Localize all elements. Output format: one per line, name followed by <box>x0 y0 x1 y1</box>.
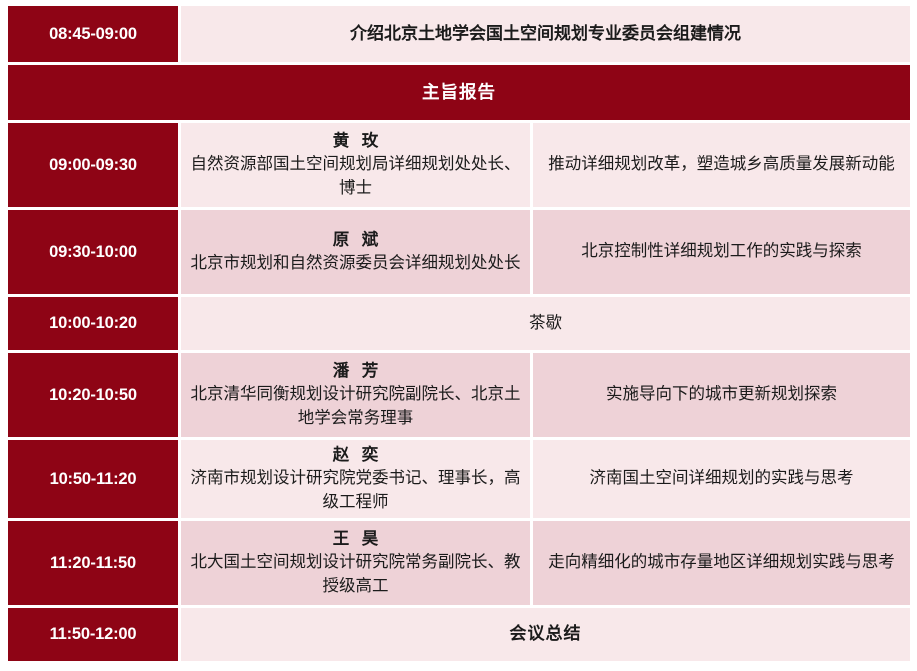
time-cell: 10:20-10:50 <box>8 353 178 437</box>
table-row: 主旨报告 <box>8 65 910 120</box>
time-cell: 11:50-12:00 <box>8 608 178 661</box>
table-row: 10:50-11:20 赵 奕 济南市规划设计研究院党委书记、理事长，高级工程师… <box>8 440 910 518</box>
speaker-cell: 黄 玫 自然资源部国土空间规划局详细规划处处长、博士 <box>181 123 530 207</box>
speaker-title: 北大国土空间规划设计研究院常务副院长、教授级高工 <box>187 551 524 598</box>
speaker-title: 北京市规划和自然资源委员会详细规划处处长 <box>191 252 521 275</box>
speaker-name: 原 斌 <box>329 229 383 252</box>
table-row: 11:50-12:00 会议总结 <box>8 608 910 661</box>
topic-cell: 济南国土空间详细规划的实践与思考 <box>533 440 910 518</box>
section-banner-cell: 主旨报告 <box>8 65 910 120</box>
agenda-table: 08:45-09:00 介绍北京土地学会国土空间规划专业委员会组建情况 主旨报告… <box>8 6 910 661</box>
table-row: 11:20-11:50 王 昊 北大国土空间规划设计研究院常务副院长、教授级高工… <box>8 521 910 605</box>
time-cell: 10:00-10:20 <box>8 297 178 350</box>
topic-cell: 实施导向下的城市更新规划探索 <box>533 353 910 437</box>
speaker-title: 济南市规划设计研究院党委书记、理事长，高级工程师 <box>187 467 524 514</box>
speaker-name: 黄 玫 <box>329 130 383 153</box>
session-title-cell: 介绍北京土地学会国土空间规划专业委员会组建情况 <box>181 6 910 62</box>
speaker-name: 潘 芳 <box>329 360 383 383</box>
time-cell: 11:20-11:50 <box>8 521 178 605</box>
time-cell: 09:00-09:30 <box>8 123 178 207</box>
speaker-cell: 王 昊 北大国土空间规划设计研究院常务副院长、教授级高工 <box>181 521 530 605</box>
topic-cell: 走向精细化的城市存量地区详细规划实践与思考 <box>533 521 910 605</box>
speaker-title: 北京清华同衡规划设计研究院副院长、北京土地学会常务理事 <box>187 383 524 430</box>
table-row: 10:00-10:20 茶歇 <box>8 297 910 350</box>
topic-cell: 推动详细规划改革，塑造城乡高质量发展新动能 <box>533 123 910 207</box>
speaker-cell: 潘 芳 北京清华同衡规划设计研究院副院长、北京土地学会常务理事 <box>181 353 530 437</box>
table-row: 10:20-10:50 潘 芳 北京清华同衡规划设计研究院副院长、北京土地学会常… <box>8 353 910 437</box>
time-cell: 08:45-09:00 <box>8 6 178 62</box>
time-cell: 10:50-11:20 <box>8 440 178 518</box>
topic-cell: 北京控制性详细规划工作的实践与探索 <box>533 210 910 294</box>
speaker-name: 王 昊 <box>329 528 383 551</box>
time-cell: 09:30-10:00 <box>8 210 178 294</box>
table-row: 08:45-09:00 介绍北京土地学会国土空间规划专业委员会组建情况 <box>8 6 910 62</box>
speaker-title: 自然资源部国土空间规划局详细规划处处长、博士 <box>187 153 524 200</box>
summary-label-cell: 会议总结 <box>181 608 910 661</box>
speaker-name: 赵 奕 <box>329 444 383 467</box>
speaker-cell: 原 斌 北京市规划和自然资源委员会详细规划处处长 <box>181 210 530 294</box>
break-label-cell: 茶歇 <box>181 297 910 350</box>
table-row: 09:00-09:30 黄 玫 自然资源部国土空间规划局详细规划处处长、博士 推… <box>8 123 910 207</box>
table-row: 09:30-10:00 原 斌 北京市规划和自然资源委员会详细规划处处长 北京控… <box>8 210 910 294</box>
speaker-cell: 赵 奕 济南市规划设计研究院党委书记、理事长，高级工程师 <box>181 440 530 518</box>
